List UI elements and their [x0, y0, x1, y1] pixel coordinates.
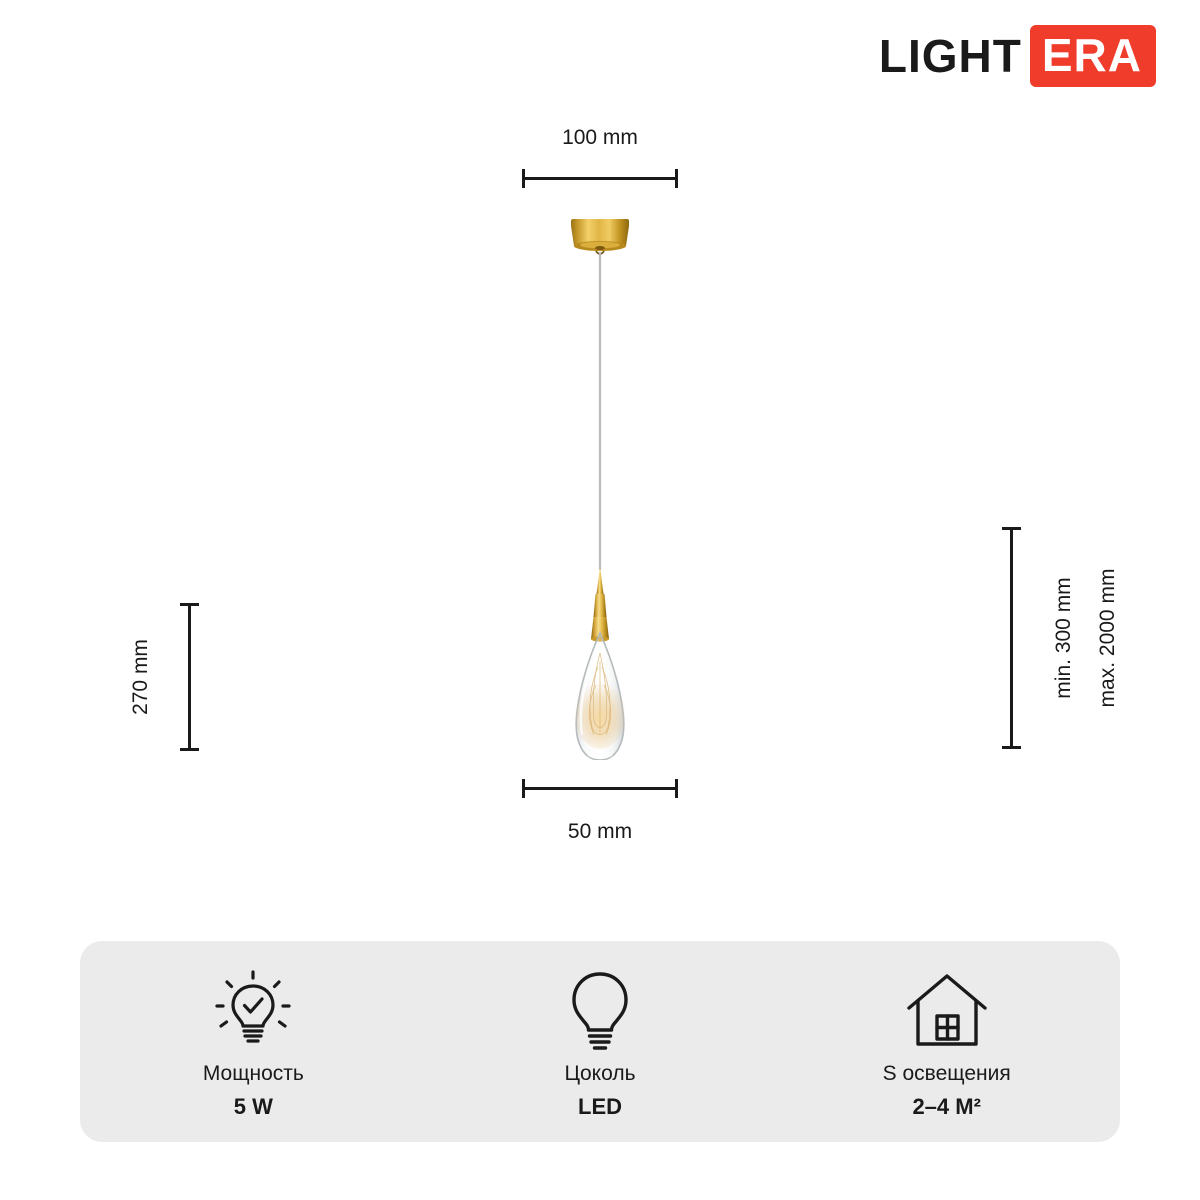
spec-value-socket: LED: [578, 1094, 622, 1120]
dimension-suspension-max-label: max. 2000 mm: [1096, 569, 1120, 708]
brand-logo: LIGHT ERA: [879, 28, 1156, 84]
brand-logo-light-text: LIGHT: [879, 33, 1030, 79]
spec-item-power: Мощность 5 W: [80, 941, 427, 1142]
glass-teardrop-shade: [575, 633, 625, 760]
dimension-top-width-line: [522, 177, 678, 180]
dimension-bottom-width-line: [522, 787, 678, 790]
dimension-suspension-range-line: [1010, 527, 1013, 749]
bulb-check-icon: [207, 964, 299, 1056]
brass-stem: [591, 567, 609, 642]
spec-label-socket: Цоколь: [564, 1062, 635, 1086]
dimension-fixture-height-label: 270 mm: [129, 639, 153, 715]
dimension-top-width-label: 100 mm: [500, 126, 700, 150]
spec-value-power: 5 W: [234, 1094, 273, 1120]
brand-logo-era-badge: ERA: [1030, 25, 1156, 87]
bulb-icon: [554, 964, 646, 1056]
dimension-fixture-height-line: [188, 603, 191, 751]
house-icon: [901, 964, 993, 1056]
ceiling-canopy: [571, 219, 629, 254]
spec-panel: Мощность 5 W Цоколь LED S освещения 2: [80, 941, 1120, 1142]
spec-label-power: Мощность: [203, 1062, 304, 1086]
spec-item-area: S освещения 2–4 M²: [773, 941, 1120, 1142]
spec-item-socket: Цоколь LED: [427, 941, 774, 1142]
dimension-suspension-min-label: min. 300 mm: [1052, 577, 1076, 698]
dimension-bottom-width-label: 50 mm: [500, 820, 700, 844]
spec-value-area: 2–4 M²: [912, 1094, 980, 1120]
spec-label-area: S освещения: [883, 1062, 1011, 1086]
pendant-lamp-illustration: [510, 215, 690, 760]
